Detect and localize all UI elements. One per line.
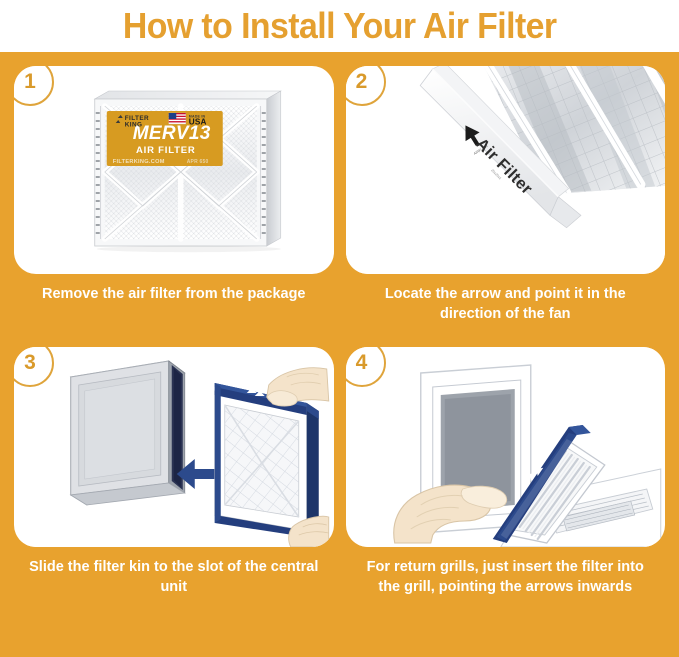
step-2-card: AIRFLOW Air Filter 20x20x1 2 — [346, 66, 666, 274]
merv13-air-filter-product-photo: MERV13 AIR FILTER FILTERKING.COM APR 650… — [14, 66, 334, 274]
step-1-card: MERV13 AIR FILTER FILTERKING.COM APR 650… — [14, 66, 334, 274]
svg-text:USA: USA — [189, 118, 207, 127]
svg-text:AIR FILTER: AIR FILTER — [136, 145, 196, 156]
step-4-card: 4 — [346, 347, 666, 547]
svg-text:KING: KING — [125, 122, 143, 129]
header-band: How to Install Your Air Filter — [0, 0, 679, 52]
step-panel-1: MERV13 AIR FILTER FILTERKING.COM APR 650… — [14, 66, 334, 339]
page-title: How to Install Your Air Filter — [123, 8, 557, 44]
inserting-filter-into-return-grill-illustration — [346, 347, 666, 547]
step-panel-3: 3 Slide the filter kin to the slot of th… — [14, 347, 334, 647]
step-caption-1: Remove the air filter from the package — [14, 284, 334, 304]
svg-text:FILTERKING.COM: FILTERKING.COM — [113, 159, 165, 165]
step-caption-2: Locate the arrow and point it in the dir… — [346, 284, 666, 324]
air-filter-corner-arrow-closeup: AIRFLOW Air Filter 20x20x1 — [346, 66, 666, 274]
steps-grid: MERV13 AIR FILTER FILTERKING.COM APR 650… — [0, 52, 679, 657]
sliding-filter-into-central-unit-illustration — [14, 347, 334, 547]
svg-text:APR 650: APR 650 — [187, 159, 209, 165]
step-caption-3: Slide the filter kin to the slot of the … — [14, 557, 334, 597]
step-caption-4: For return grills, just insert the filte… — [346, 557, 666, 597]
step-panel-4: 4 For return grills, just insert the fil… — [346, 347, 666, 647]
step-panel-2: AIRFLOW Air Filter 20x20x1 2 Locate the … — [346, 66, 666, 339]
step-3-card: 3 — [14, 347, 334, 547]
infographic-root: How to Install Your Air Filter — [0, 0, 679, 657]
